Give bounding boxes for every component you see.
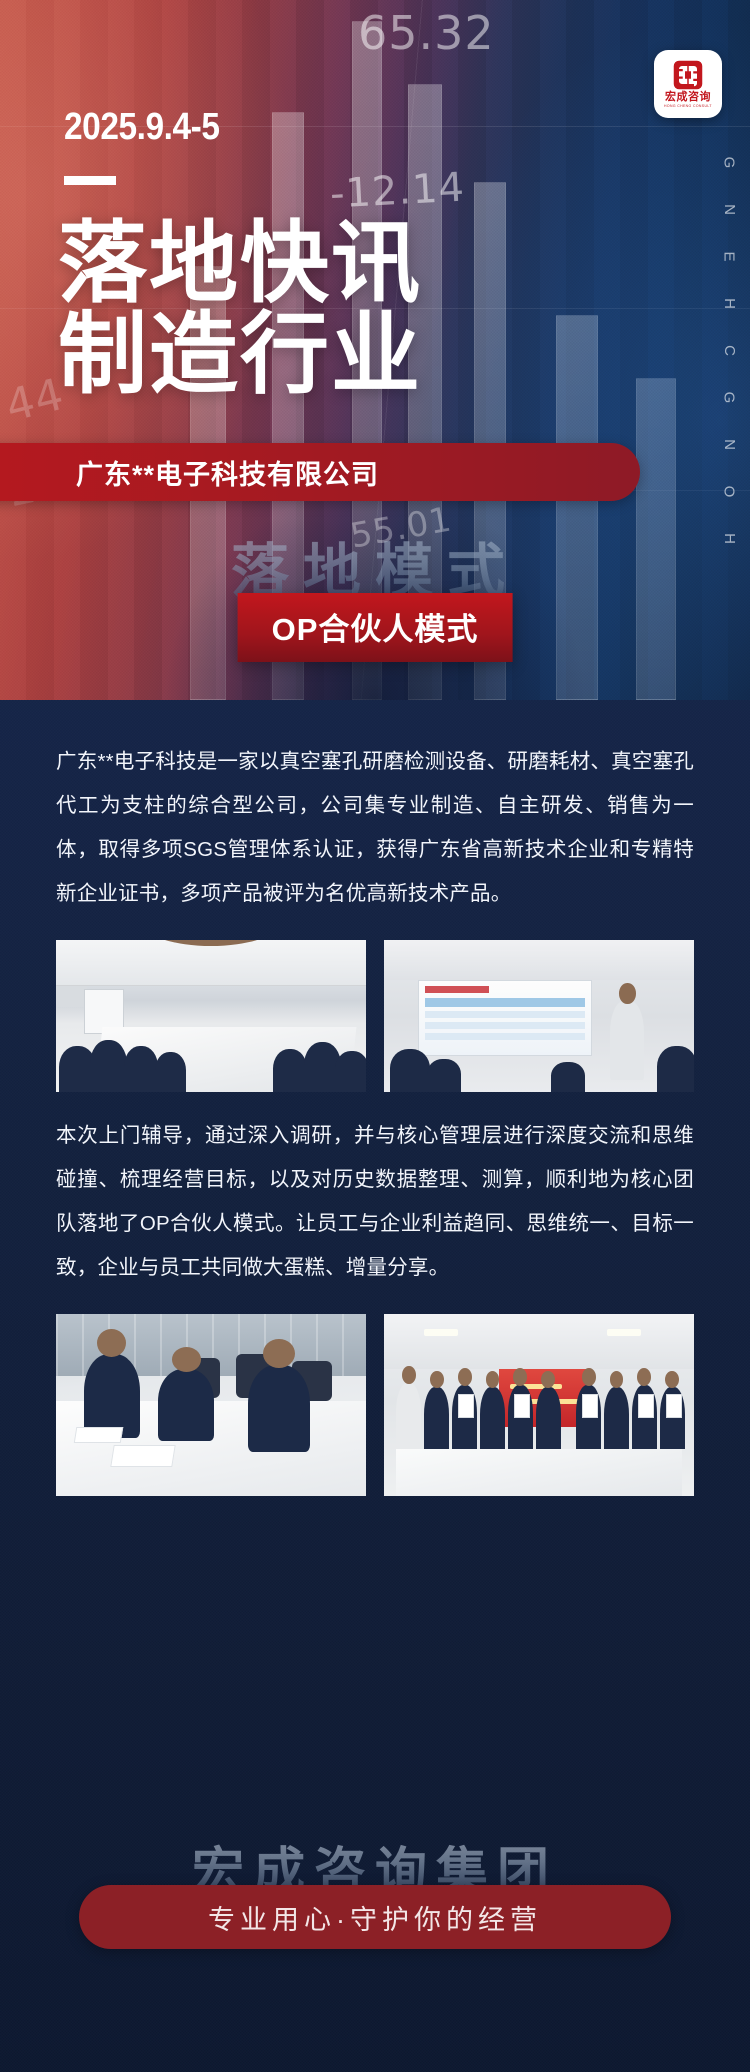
photo-row-1 bbox=[56, 940, 694, 1092]
certificate-shape bbox=[638, 1394, 654, 1418]
side-letter: H bbox=[721, 298, 738, 311]
poster-root: 65.32 -12.14 55.01 44 25 64 宏成咨询 HONG CH… bbox=[0, 0, 750, 2072]
photo-signing-session-image bbox=[56, 1314, 366, 1496]
attendee-figure bbox=[536, 1387, 561, 1449]
attendee-figure bbox=[396, 1383, 421, 1449]
logo-english-name: HONG CHENG CONSULT bbox=[664, 105, 712, 108]
attendee-figure bbox=[335, 1051, 366, 1092]
attendee-figure bbox=[427, 1059, 461, 1092]
attendee-figure bbox=[390, 1049, 430, 1092]
logo-chinese-name: 宏成咨询 bbox=[665, 92, 711, 103]
attendee-figure bbox=[124, 1046, 158, 1092]
photo-presentation-slide[interactable] bbox=[384, 940, 694, 1092]
certificate-shape bbox=[458, 1394, 474, 1418]
certificate-shape bbox=[582, 1394, 598, 1418]
footer-section: 宏成咨询集团 专业用心·守护你的经营 bbox=[0, 1742, 750, 2072]
ceiling-light-shape bbox=[607, 1329, 641, 1336]
attendee-figure bbox=[424, 1387, 449, 1449]
slide-table-row bbox=[425, 1022, 585, 1029]
brand-slogan: 专业用心·守护你的经营 bbox=[79, 1885, 671, 1949]
title-line-1: 落地快讯 bbox=[58, 218, 422, 309]
table-shape bbox=[396, 1449, 681, 1496]
presenter-figure bbox=[610, 1001, 644, 1080]
body-paragraph-2: 本次上门辅导，通过深入调研，并与核心管理层进行深度交流和思维碰撞、梳理经营目标，… bbox=[56, 1092, 694, 1290]
signer-figure bbox=[248, 1365, 310, 1452]
status-badge: OP合伙人模式 bbox=[238, 593, 513, 662]
company-name-text: 广东**电子科技有限公司 bbox=[76, 453, 379, 492]
hongcheng-h-logo-icon bbox=[673, 60, 703, 90]
slide-table-header bbox=[425, 998, 585, 1007]
ceiling-light-shape bbox=[424, 1329, 458, 1336]
body-section: 广东**电子科技是一家以真空塞孔研磨检测设备、研磨耗材、真空塞孔代工为支柱的综合… bbox=[0, 700, 750, 2072]
signer-figure bbox=[158, 1369, 214, 1442]
document-shape bbox=[73, 1427, 122, 1443]
photo-group-ceremony-image bbox=[384, 1314, 694, 1496]
certificate-shape bbox=[514, 1394, 530, 1418]
attendee-figure bbox=[90, 1040, 127, 1092]
document-shape bbox=[110, 1445, 175, 1467]
signer-figure bbox=[84, 1354, 140, 1438]
photo-meeting-room-image bbox=[56, 940, 366, 1092]
side-letter: N bbox=[721, 204, 738, 217]
company-name-banner: 广东**电子科技有限公司 bbox=[0, 443, 640, 501]
body-paragraph-1: 广东**电子科技是一家以真空塞孔研磨检测设备、研磨耗材、真空塞孔代工为支柱的综合… bbox=[56, 700, 694, 916]
attendee-figure bbox=[657, 1046, 694, 1092]
photo-meeting-room[interactable] bbox=[56, 940, 366, 1092]
side-letter: N bbox=[721, 439, 738, 452]
brand-logo[interactable]: 宏成咨询 HONG CHENG CONSULT bbox=[654, 50, 722, 118]
attendee-figure bbox=[155, 1052, 186, 1092]
event-date: 2025.9.4-5 bbox=[64, 106, 220, 149]
projected-slide bbox=[418, 980, 592, 1056]
slide-title-bar bbox=[425, 986, 489, 993]
side-letter: H bbox=[721, 533, 738, 546]
attendee-figure bbox=[480, 1387, 505, 1449]
ceiling-shape bbox=[384, 940, 694, 980]
chart-value-label: 65.32 bbox=[358, 6, 495, 60]
attendee-figure bbox=[604, 1387, 629, 1449]
side-letter: G bbox=[721, 392, 738, 406]
slide-table-row bbox=[425, 1033, 585, 1040]
page-title: 落地快讯 制造行业 bbox=[58, 218, 422, 400]
photo-presentation-slide-image bbox=[384, 940, 694, 1092]
attendee-figure bbox=[551, 1062, 585, 1092]
side-letter: O bbox=[721, 486, 738, 500]
slide-table-row bbox=[425, 1011, 585, 1018]
side-letter: G bbox=[721, 157, 738, 171]
photo-group-ceremony[interactable] bbox=[384, 1314, 694, 1496]
title-line-2: 制造行业 bbox=[58, 309, 422, 400]
photo-signing-session[interactable] bbox=[56, 1314, 366, 1496]
attendee-figure bbox=[273, 1049, 307, 1092]
side-letter: C bbox=[721, 345, 738, 358]
presenter-figure bbox=[56, 940, 87, 1007]
vertical-brand-letters: G N E H C G N O H bbox=[722, 155, 736, 548]
date-underline-rule bbox=[64, 176, 116, 185]
certificate-shape bbox=[666, 1394, 682, 1418]
photo-row-2 bbox=[56, 1314, 694, 1496]
ceiling-shape bbox=[384, 1314, 694, 1369]
chart-value-label: -12.14 bbox=[329, 165, 466, 218]
side-letter: E bbox=[721, 251, 738, 263]
